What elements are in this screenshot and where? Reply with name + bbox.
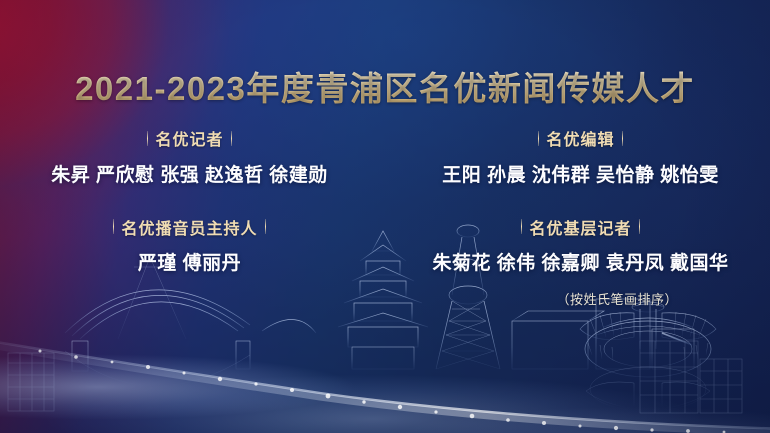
group-heading-label: 名优编辑 (546, 126, 614, 150)
group-heading-label: 名优基层记者 (529, 215, 631, 239)
divider-bar-left-icon (113, 219, 114, 234)
group-heading-label: 名优播音员主持人 (121, 215, 257, 239)
sort-order-footnote: （按姓氏笔画排序） (556, 289, 678, 308)
award-group-ming-you-ji-ceng-ji-zhe: 名优基层记者 朱菊花 徐伟 徐嘉卿 袁丹凤 戴国华 (391, 215, 770, 276)
divider-bar-left-icon (538, 131, 539, 146)
award-group-ming-you-bian-ji: 名优编辑 王阳 孙晨 沈伟群 吴怡静 姚怡雯 (391, 126, 770, 187)
group-heading-editors: 名优编辑 (538, 126, 622, 150)
divider-bar-left-icon (521, 219, 522, 234)
divider-bar-right-icon (639, 219, 640, 234)
divider-bar-left-icon (147, 131, 148, 146)
poster-canvas: 2021-2023年度青浦区名优新闻传媒人才 名优记者 朱昇 严欣慰 张强 赵逸… (0, 0, 770, 433)
group-heading-label: 名优记者 (155, 126, 223, 150)
award-group-ming-you-bo-yin-yuan: 名优播音员主持人 严瑾 傅丽丹 (0, 215, 379, 276)
group-heading-reporters: 名优记者 (147, 126, 231, 150)
award-column-left: 名优记者 朱昇 严欣慰 张强 赵逸哲 徐建勋 名优播音员主持人 严瑾 傅丽丹 (0, 126, 385, 275)
divider-bar-right-icon (265, 219, 266, 234)
group-heading-grassroots-reporters: 名优基层记者 (521, 215, 639, 239)
group-name-list: 朱菊花 徐伟 徐嘉卿 袁丹凤 戴国华 (391, 248, 770, 275)
poster-content: 2021-2023年度青浦区名优新闻传媒人才 名优记者 朱昇 严欣慰 张强 赵逸… (0, 0, 770, 433)
award-group-ming-you-ji-zhe: 名优记者 朱昇 严欣慰 张强 赵逸哲 徐建勋 (0, 126, 379, 187)
award-columns: 名优记者 朱昇 严欣慰 张强 赵逸哲 徐建勋 名优播音员主持人 严瑾 傅丽丹 (0, 126, 770, 275)
award-column-right: 名优编辑 王阳 孙晨 沈伟群 吴怡静 姚怡雯 名优基层记者 朱菊花 徐伟 徐嘉卿… (385, 126, 770, 275)
group-name-list: 朱昇 严欣慰 张强 赵逸哲 徐建勋 (0, 160, 379, 187)
divider-bar-right-icon (622, 131, 623, 146)
divider-bar-right-icon (231, 131, 232, 146)
group-name-list: 严瑾 傅丽丹 (0, 248, 379, 275)
page-title: 2021-2023年度青浦区名优新闻传媒人才 (0, 62, 770, 110)
group-name-list: 王阳 孙晨 沈伟群 吴怡静 姚怡雯 (391, 160, 770, 187)
group-heading-announcers: 名优播音员主持人 (113, 215, 265, 239)
